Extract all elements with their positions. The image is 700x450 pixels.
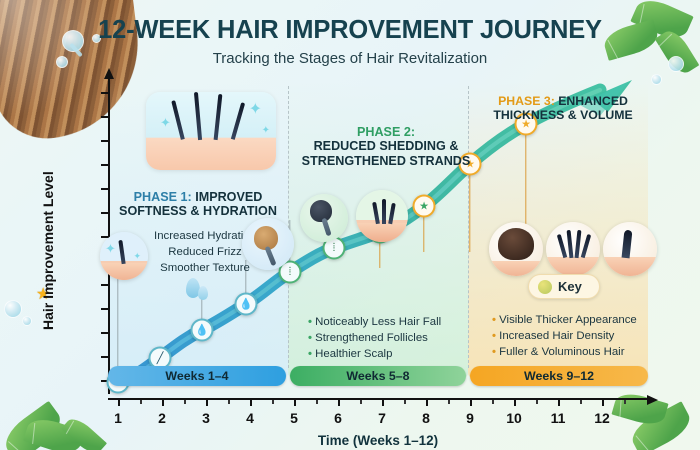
phase-2-tag: PHASE 2: — [357, 125, 415, 139]
phase-1-title-rest: IMPROVED — [192, 190, 263, 204]
x-tick-label-7: 7 — [378, 410, 386, 426]
y-axis-title: Hair Improvement Level — [40, 171, 56, 330]
phase-3-density-illustration — [546, 222, 600, 276]
phase-1-brush-illustration — [242, 218, 294, 270]
x-axis-arrow — [647, 395, 658, 405]
phase-3-week-bar[interactable]: Weeks 9–12 — [470, 366, 648, 386]
data-point-week-8[interactable]: ★ — [413, 195, 436, 218]
phase-3-thickness-illustration — [603, 222, 657, 276]
phase-2-heading: PHASE 2: REDUCED SHEDDING & STRENGTHENED… — [292, 125, 480, 168]
phase-1-heading: PHASE 1: IMPROVED SOFTNESS & HYDRATION — [112, 190, 284, 219]
phase-2-title-line3: STRENGTHENED STRANDS — [302, 154, 471, 168]
x-tick-label-3: 3 — [202, 410, 210, 426]
phase-2-bullets: Noticeably Less Hair Fall Strengthened F… — [308, 314, 472, 363]
bubble-decoration-4 — [4, 300, 22, 318]
phase-3-title-rest: ENHANCED — [555, 94, 628, 108]
phase-3-heading: PHASE 3: ENHANCED THICKNESS & VOLUME — [478, 94, 648, 122]
x-tick-label-11: 11 — [551, 410, 566, 426]
hero-hair-illustration: ✦ ✦ ✦ — [146, 92, 276, 170]
infographic-canvas: 12-WEEK HAIR IMPROVEMENT JOURNEY Trackin… — [0, 0, 700, 450]
x-tick-label-12: 12 — [594, 410, 610, 426]
phase-1-title-line2: SOFTNESS & HYDRATION — [119, 204, 277, 218]
x-tick-label-9: 9 — [466, 410, 474, 426]
phase-2-week-bar[interactable]: Weeks 5–8 — [290, 366, 466, 386]
page-title: 12-WEEK HAIR IMPROVEMENT JOURNEY — [0, 16, 700, 45]
bubble-decoration-5 — [22, 316, 32, 326]
leader-week11 — [469, 168, 470, 252]
phase-2-title-line2: REDUCED SHEDDING & — [314, 139, 459, 153]
phase-3-head-illustration — [489, 222, 543, 276]
phase-2-bullet-1: Noticeably Less Hair Fall — [308, 314, 472, 330]
phase-3-title-line2: THICKNESS & VOLUME — [493, 108, 632, 122]
bubble-decoration-7 — [651, 74, 662, 85]
phase-1-tag: PHASE 1: — [134, 190, 192, 204]
x-tick-label-4: 4 — [246, 410, 254, 426]
phase-3-bullet-1: Visible Thicker Appearance — [492, 312, 664, 328]
phase-3-bullet-3: Fuller & Voluminous Hair — [492, 344, 664, 360]
leaf-decoration-bottom-left-2 — [23, 414, 85, 450]
data-point-week-3[interactable]: 💧 — [191, 319, 214, 342]
phase-2-follicle-illustration — [356, 190, 408, 242]
phase-3-bar-label: Weeks 9–12 — [524, 369, 594, 383]
leaf-decoration-bottom-left-3 — [61, 414, 107, 450]
x-tick-label-1: 1 — [114, 410, 122, 426]
phase-2-brush-illustration — [300, 194, 348, 242]
phase-1-follicle-illustration: ✦ ✦ — [100, 232, 148, 280]
data-point-week-4[interactable]: 💧 — [235, 293, 258, 316]
leader-week1 — [117, 268, 118, 376]
phase-3-tag: PHASE 3: — [498, 94, 555, 108]
x-axis-title: Time (Weeks 1–12) — [108, 433, 648, 448]
key-badge[interactable]: Key — [528, 274, 600, 299]
page-subtitle: Tracking the Stages of Hair Revitalizati… — [0, 50, 700, 67]
x-tick-label-6: 6 — [334, 410, 342, 426]
x-tick-label-2: 2 — [158, 410, 166, 426]
phase-3-bullet-2: Increased Hair Density — [492, 328, 664, 344]
phase-2-bullet-2: Strengthened Follicles — [308, 330, 472, 346]
leaf-decoration-bottom-left-1 — [0, 401, 67, 450]
phase-2-bar-label: Weeks 5–8 — [346, 369, 409, 383]
phase-1-week-bar[interactable]: Weeks 1–4 — [108, 366, 286, 386]
x-tick-label-10: 10 — [506, 410, 522, 426]
phase-1-bar-label: Weeks 1–4 — [165, 369, 228, 383]
x-tick-label-5: 5 — [290, 410, 298, 426]
phase-3-bullets: Visible Thicker Appearance Increased Hai… — [492, 312, 664, 361]
key-label: Key — [558, 279, 582, 294]
x-tick-label-8: 8 — [422, 410, 430, 426]
key-dot-icon — [538, 280, 552, 294]
y-axis-arrow — [104, 68, 114, 79]
phase-2-bullet-3: Healthier Scalp — [308, 346, 472, 362]
water-droplet-illustration — [180, 276, 214, 310]
